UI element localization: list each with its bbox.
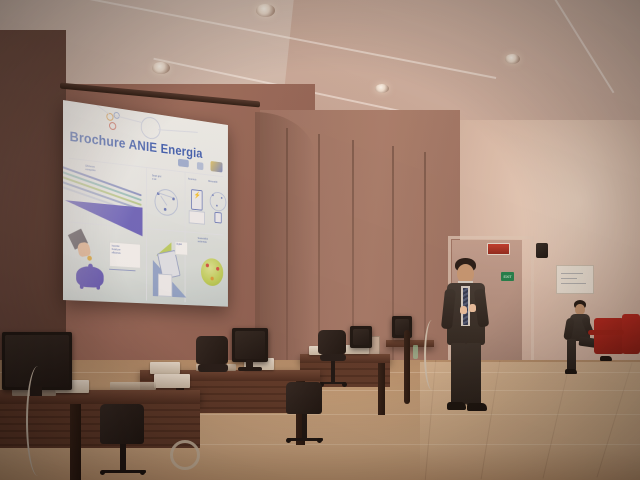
fire-alarm-box (487, 243, 510, 255)
thumb-tablet: Digital (149, 231, 186, 303)
desk-leg (70, 404, 81, 480)
wall-panel-seam (392, 146, 394, 390)
shoe-right (467, 403, 487, 411)
ceiling-spotlight (375, 84, 389, 93)
whiteboard (556, 265, 594, 294)
shoe (600, 356, 612, 361)
hand (469, 304, 476, 312)
computer-monitor (350, 326, 372, 348)
name-placard (150, 362, 180, 374)
exit-sign: EXIT (501, 272, 514, 281)
power-cable (26, 366, 50, 476)
keyboard (110, 382, 156, 390)
slide-col-divider (146, 167, 147, 301)
computer-monitor (232, 328, 268, 362)
slide-logo-anie (211, 161, 223, 173)
shoe-left (447, 402, 466, 410)
ceiling-spotlight (152, 62, 170, 74)
thumb-green-cycle: Sostenibilitàambientale (194, 235, 227, 305)
decor-circle-small (109, 122, 116, 131)
decor-connector (158, 129, 198, 133)
thumb-battery: Accumulo ⚡ (187, 177, 206, 227)
ceiling-spotlight (505, 54, 520, 64)
leg-left (451, 343, 466, 405)
mic-stand (404, 330, 410, 404)
thumb-piggy-bank: Incentivifiscali perefficienza (65, 224, 143, 301)
leg (567, 339, 576, 371)
wall-speaker (536, 243, 548, 258)
name-placard (154, 374, 190, 388)
coiled-cable (170, 440, 200, 470)
red-chair (594, 318, 624, 354)
leg-right (466, 343, 481, 405)
slide-logo-left (178, 159, 189, 168)
projected-slide: Brochure ANIE Energia Efficienzaenergeti… (63, 100, 228, 307)
exit-sign-label: EXIT (503, 274, 511, 279)
red-chair (622, 314, 640, 354)
decor-connector (114, 115, 142, 123)
desk-leg (378, 363, 385, 415)
water-bottle (413, 345, 418, 359)
thumb-nodes: Rinnovabili (207, 179, 228, 229)
hand (460, 306, 467, 314)
conference-hall-photo: EXIT Brochure ANIE Energia (0, 0, 640, 480)
projection-screen: Brochure ANIE Energia Efficienzaenergeti… (63, 100, 228, 307)
ceiling-spotlight (256, 4, 275, 17)
shoe (565, 369, 577, 374)
wall-panel-seam (286, 128, 288, 390)
monitor-base (238, 367, 262, 371)
slide-title: Brochure ANIE Energia (70, 129, 203, 161)
red-chair-armrest (588, 330, 624, 335)
cable (424, 320, 440, 390)
slide-logo-center (197, 162, 203, 170)
thumb-network: Smart gride reti (149, 172, 183, 224)
decor-circle-large (141, 116, 161, 141)
